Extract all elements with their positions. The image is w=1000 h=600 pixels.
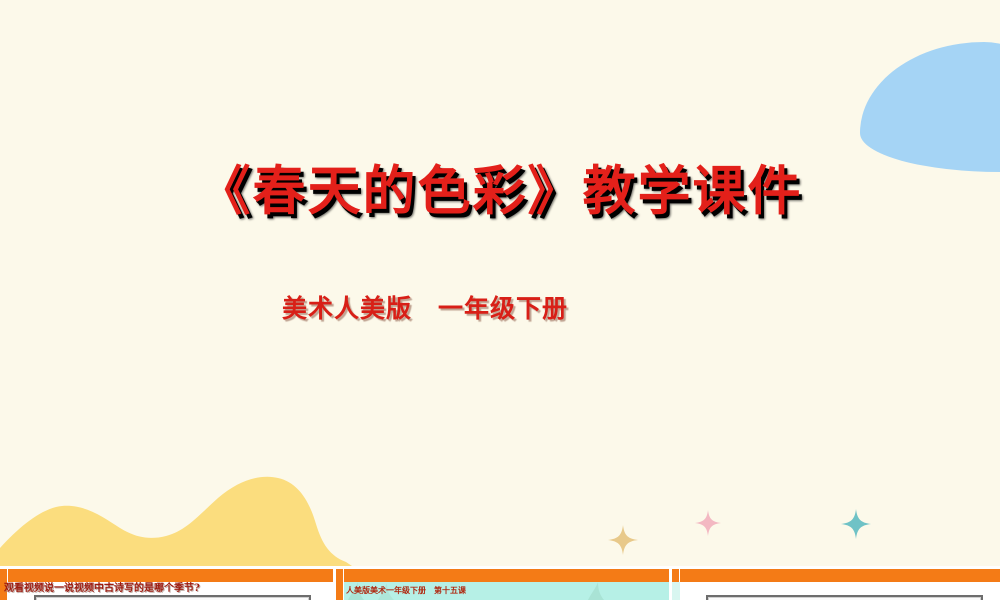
thumbnail-3-content-box xyxy=(706,595,983,600)
thumbnail-filmstrip[interactable]: 观看视频说一说视频中古诗写的是哪个季节? 人美版美术一年级下册 第十五课 xyxy=(0,566,1000,600)
thumbnail-slide-1[interactable]: 观看视频说一说视频中古诗写的是哪个季节? xyxy=(0,566,333,600)
thumbnail-slide-2[interactable]: 人美版美术一年级下册 第十五课 xyxy=(336,566,669,600)
thumbnail-2-header-bar xyxy=(344,569,669,582)
yellow-hill-decoration xyxy=(0,456,380,566)
presentation-app: 《春天的色彩》教学课件 美术人美版 一年级下册 观看视频说一说视频中古诗写的是哪… xyxy=(0,0,1000,600)
sparkle-gold-icon xyxy=(608,525,638,555)
blue-blob-decoration xyxy=(860,42,1000,172)
thumbnail-3-header-bar xyxy=(680,569,1000,582)
slide-title[interactable]: 《春天的色彩》教学课件 xyxy=(0,158,1000,224)
sparkle-teal-icon xyxy=(841,509,871,539)
thumbnail-2-title-text: 人美版美术一年级下册 第十五课 xyxy=(346,585,466,596)
thumbnail-3-left-strip xyxy=(672,582,680,600)
slide-canvas[interactable]: 《春天的色彩》教学课件 美术人美版 一年级下册 xyxy=(0,0,1000,566)
thumbnail-1-content-box xyxy=(34,595,311,600)
sparkle-pink-icon xyxy=(695,510,721,536)
thumbnail-slide-3[interactable] xyxy=(672,566,1000,600)
slide-subtitle[interactable]: 美术人美版 一年级下册 xyxy=(0,292,1000,326)
thumbnail-1-question-text: 观看视频说一说视频中古诗写的是哪个季节? xyxy=(4,583,200,595)
thumbnail-1-header-bar xyxy=(8,569,333,582)
